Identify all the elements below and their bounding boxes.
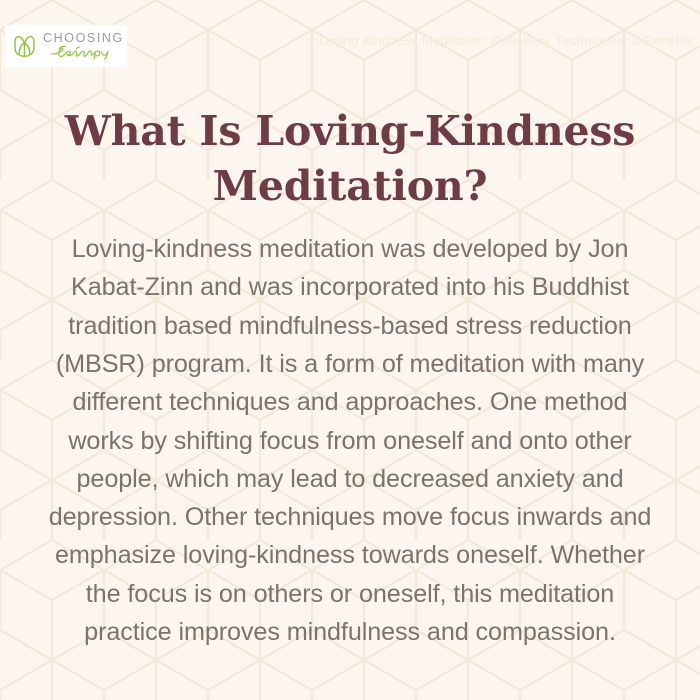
brand-word-choosing: CHOOSING	[43, 32, 127, 45]
brand-wordmark: CHOOSING	[43, 32, 127, 61]
body-paragraph: Loving-kindness meditation was developed…	[33, 230, 667, 651]
brand-logo[interactable]: CHOOSING	[5, 25, 127, 67]
infographic-card: CHOOSING Lovi	[0, 0, 700, 700]
page-title: What Is Loving-Kindness Meditation?	[33, 104, 667, 213]
card-content: What Is Loving-Kindness Meditation? Lovi…	[0, 0, 700, 700]
article-title-header: Loving Kindness Meditation: Definition, …	[319, 33, 693, 48]
lotus-leaf-icon	[11, 33, 38, 60]
page-header: CHOOSING Lovi	[0, 0, 700, 92]
brand-word-therapy-script	[43, 45, 127, 60]
